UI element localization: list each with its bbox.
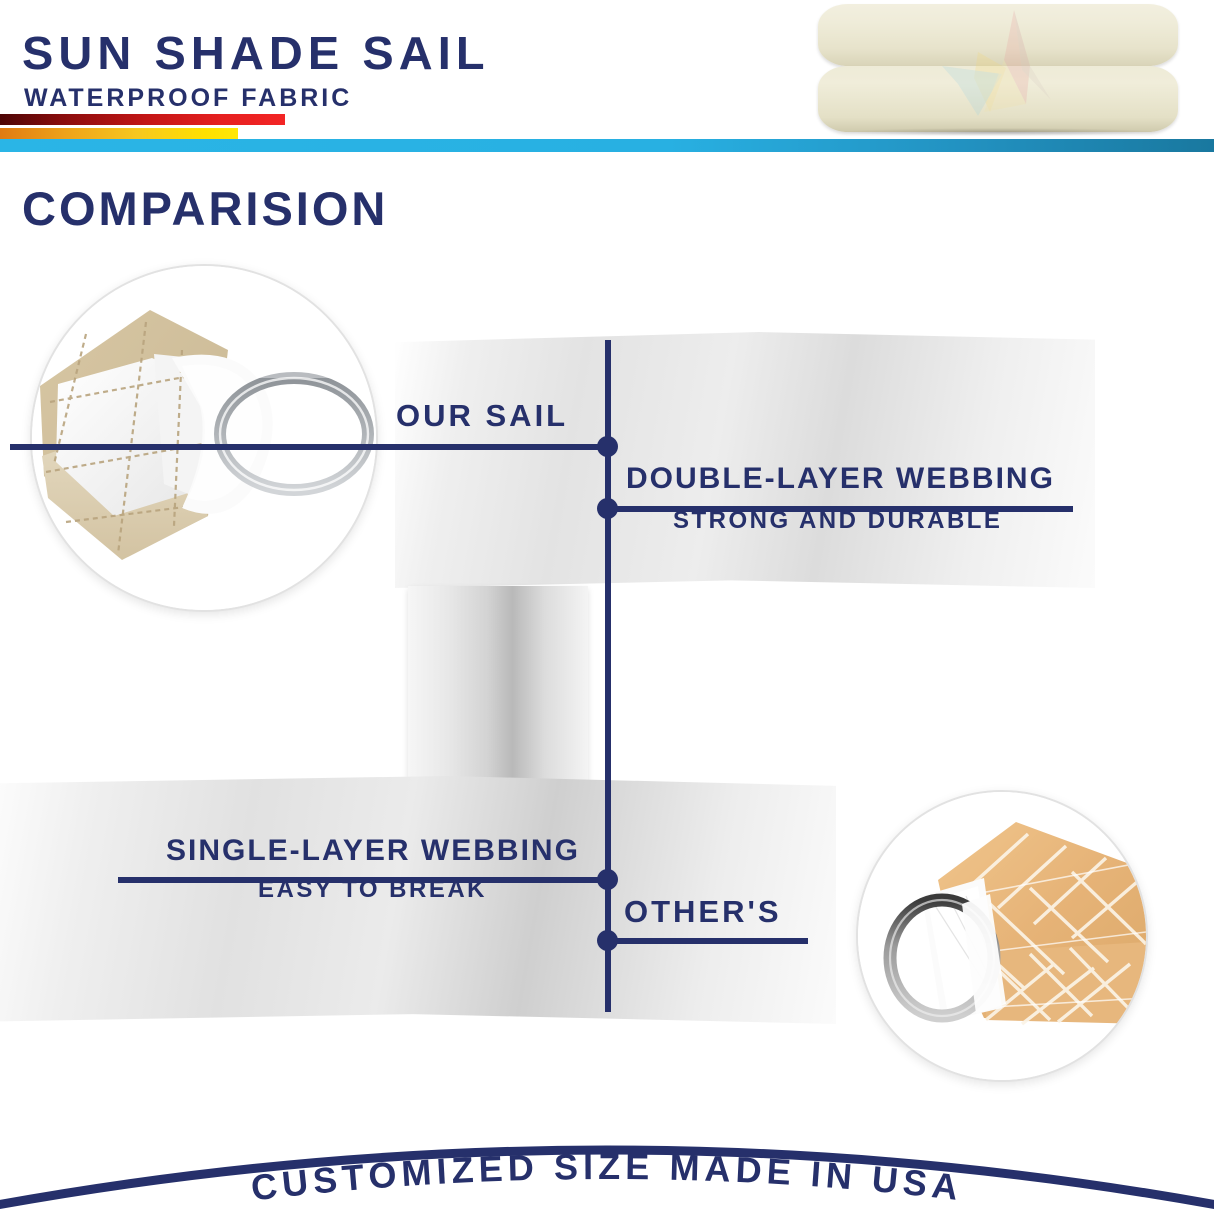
label-our-sail: OUR SAIL [396,400,568,431]
photo-other-sail-corner [856,790,1148,1082]
infographic-canvas: SUN SHADE SAIL WATERPROOF FABRIC COMPARI… [0,0,1214,1214]
ribbon-our-sail [395,332,1095,588]
label-single-layer-webbing: SINGLE-LAYER WEBBING [166,836,580,866]
product-photo-shadow [842,128,1158,136]
section-heading: COMPARISION [22,185,388,232]
node-dot-single-layer [597,869,618,890]
page-subtitle: WATERPROOF FABRIC [24,86,352,111]
node-dot-double-layer [597,498,618,519]
ribbon-connector-stem [408,586,588,794]
fabric-roll-lower [818,66,1178,132]
label-others: OTHER'S [624,896,782,927]
product-photo-fabric-rolls [818,0,1178,140]
label-easy-to-break: EASY TO BREAK [258,878,487,902]
leader-line-our-sail [10,444,610,450]
label-strong-and-durable: STRONG AND DURABLE [673,509,1002,533]
page-title: SUN SHADE SAIL [22,30,490,76]
photo-our-sail-corner [30,264,378,612]
node-dot-others [597,930,618,951]
fabric-roll-upper [818,4,1178,66]
accent-bar-yellow [0,128,238,139]
accent-bar-red [0,114,285,125]
other-sail-corner-illustration [858,792,1146,1080]
label-double-layer-webbing: DOUBLE-LAYER WEBBING [626,464,1055,494]
accent-bar-cyan [0,139,1214,152]
footer-arc-banner: CUSTOMIZED SIZE MADE IN USA [0,1092,1214,1214]
leader-line-others [608,938,808,944]
our-sail-corner-illustration [32,266,376,610]
node-dot-our-sail [597,436,618,457]
